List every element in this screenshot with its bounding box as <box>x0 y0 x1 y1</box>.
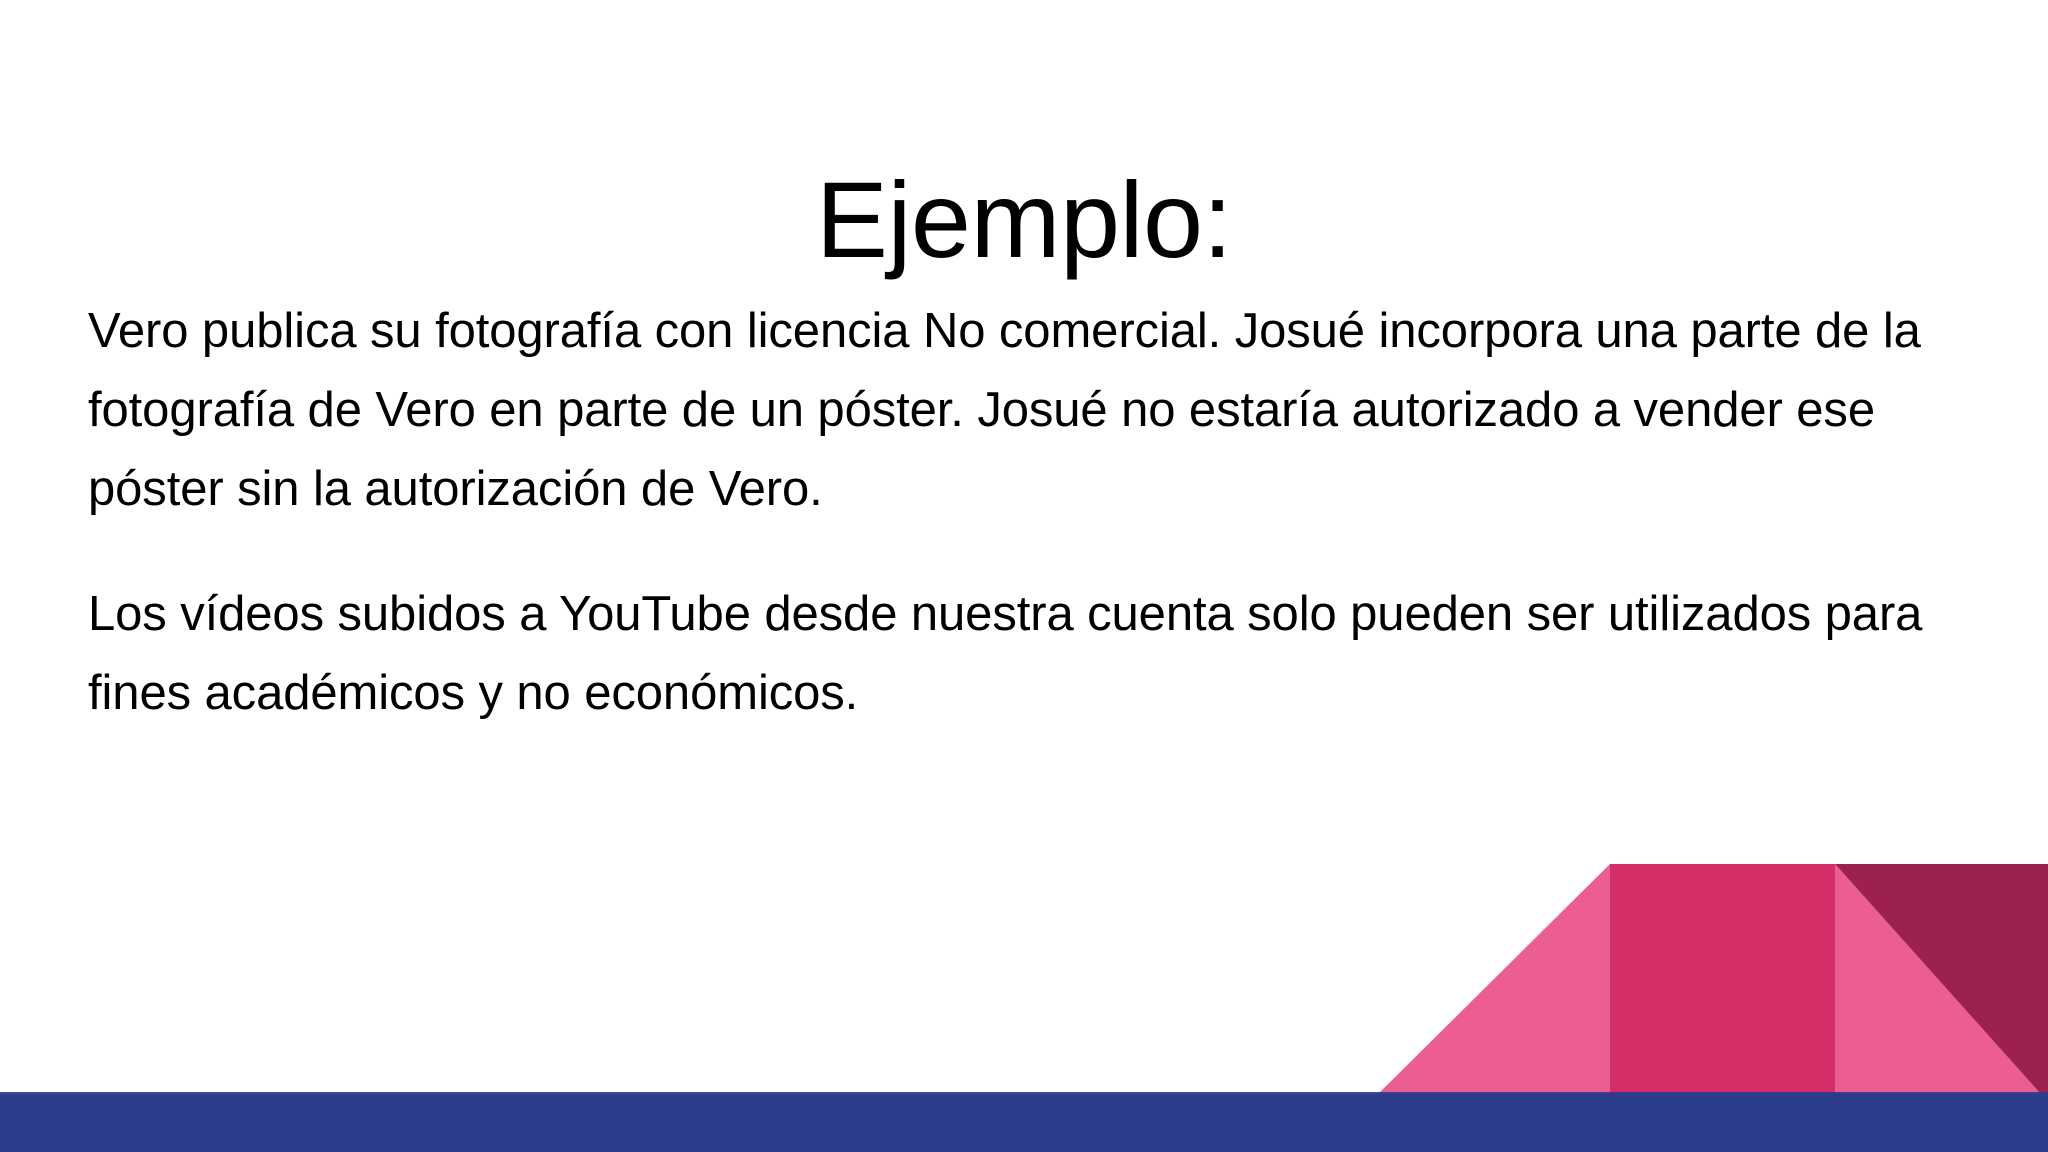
page-title: Ejemplo: <box>0 160 2048 281</box>
corner-triangles-icon <box>1370 864 2048 1104</box>
bottom-bar <box>0 1094 2048 1152</box>
slide-canvas: Ejemplo: Vero publica su fotografía con … <box>0 0 2048 1152</box>
corner-decoration <box>1370 864 2048 1104</box>
slide-body: Vero publica su fotografía con licencia … <box>88 292 1968 733</box>
deco-triangle-left <box>1370 864 1610 1102</box>
body-paragraph-2: Los vídeos subidos a YouTube desde nuest… <box>88 575 1968 733</box>
body-paragraph-1: Vero publica su fotografía con licencia … <box>88 292 1968 529</box>
deco-rect-center <box>1610 864 1835 1102</box>
